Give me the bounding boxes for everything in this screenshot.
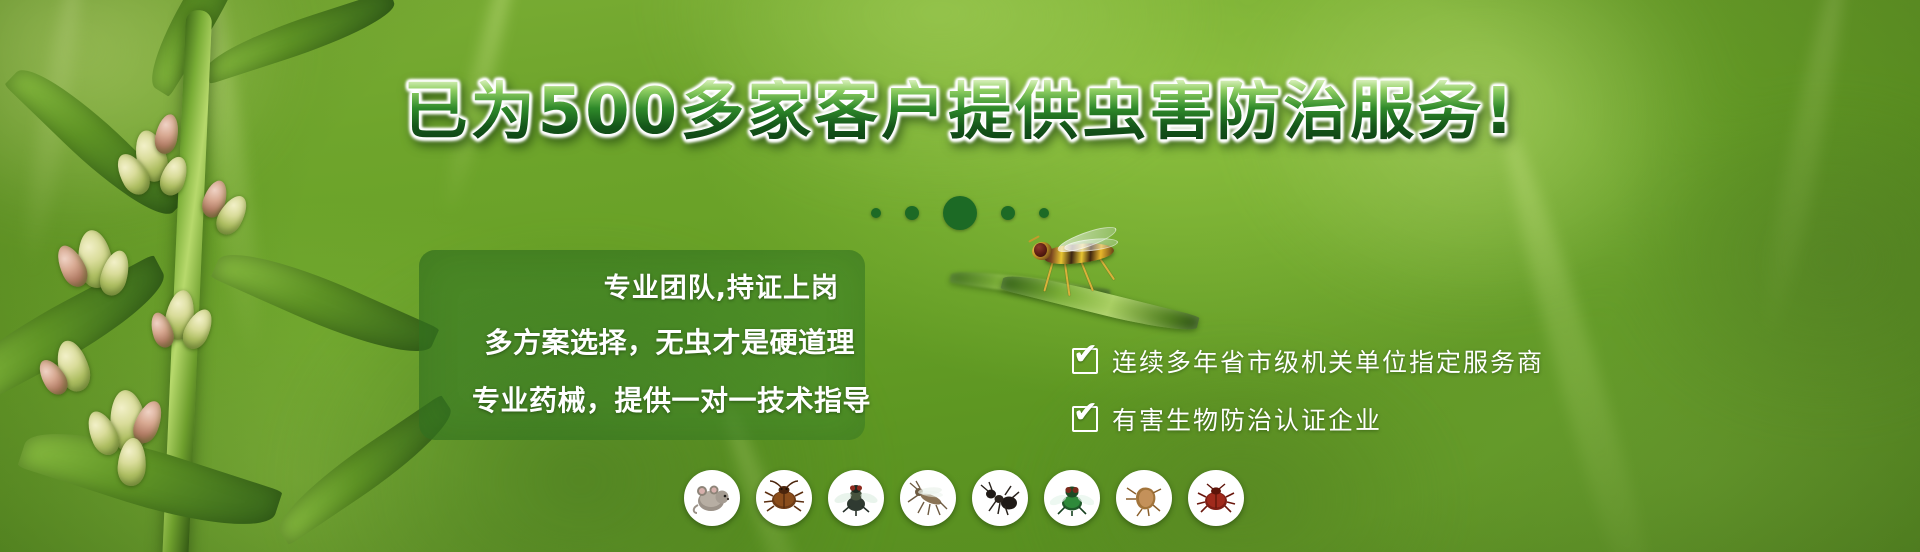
fly-icon[interactable] [828, 470, 884, 526]
plant-leaf [200, 0, 401, 84]
selling-point-line-1: 专业团队,持证上岗 [419, 259, 839, 312]
decorative-dot-small [1039, 208, 1049, 218]
cockroach-icon[interactable] [756, 470, 812, 526]
mosquito-icon[interactable] [900, 470, 956, 526]
decorative-dot-medium [1001, 206, 1015, 220]
blowfly-icon[interactable] [1044, 470, 1100, 526]
selling-point-line-3: 专业药械，提供一对一技术指导 [419, 370, 871, 428]
insect-leg [1099, 258, 1115, 281]
decorative-dot-small [871, 208, 881, 218]
insect-eye [1034, 243, 1047, 257]
decorative-dot-row [0, 196, 1920, 230]
pest-control-hero-banner: 已为500多家客户提供虫害防治服务! 专业团队,持证上岗 多方案选择，无虫才是硬… [0, 0, 1920, 552]
ant-icon[interactable] [972, 470, 1028, 526]
plant-leaf [211, 235, 440, 371]
banner-headline: 已为500多家客户提供虫害防治服务! [0, 80, 1920, 144]
selling-point-line-2: 多方案选择，无虫才是硬道理 [419, 312, 855, 370]
certification-bullet-list: ✔ 连续多年省市级机关单位指定服务商 ✔ 有害生物防治认证企业 [1072, 332, 1544, 448]
pest-type-icon-row [684, 470, 1244, 526]
checkbox-checked-icon: ✔ [1072, 348, 1098, 374]
certification-bullet-1: ✔ 连续多年省市级机关单位指定服务商 [1072, 332, 1544, 390]
certification-bullet-2-label: 有害生物防治认证企业 [1112, 401, 1382, 437]
mouse-icon[interactable] [684, 470, 740, 526]
checkbox-checked-icon: ✔ [1072, 406, 1098, 432]
leaf-foreground [1000, 268, 1199, 338]
decorative-dot-large [943, 196, 977, 230]
decorative-dot-medium [905, 206, 919, 220]
bedbug-icon[interactable] [1188, 470, 1244, 526]
flea-icon[interactable] [1116, 470, 1172, 526]
selling-points-panel: 专业团队,持证上岗 多方案选择，无虫才是硬道理 专业药械，提供一对一技术指导 [419, 250, 865, 440]
certification-bullet-2: ✔ 有害生物防治认证企业 [1072, 390, 1544, 448]
certification-bullet-1-label: 连续多年省市级机关单位指定服务商 [1112, 343, 1544, 379]
